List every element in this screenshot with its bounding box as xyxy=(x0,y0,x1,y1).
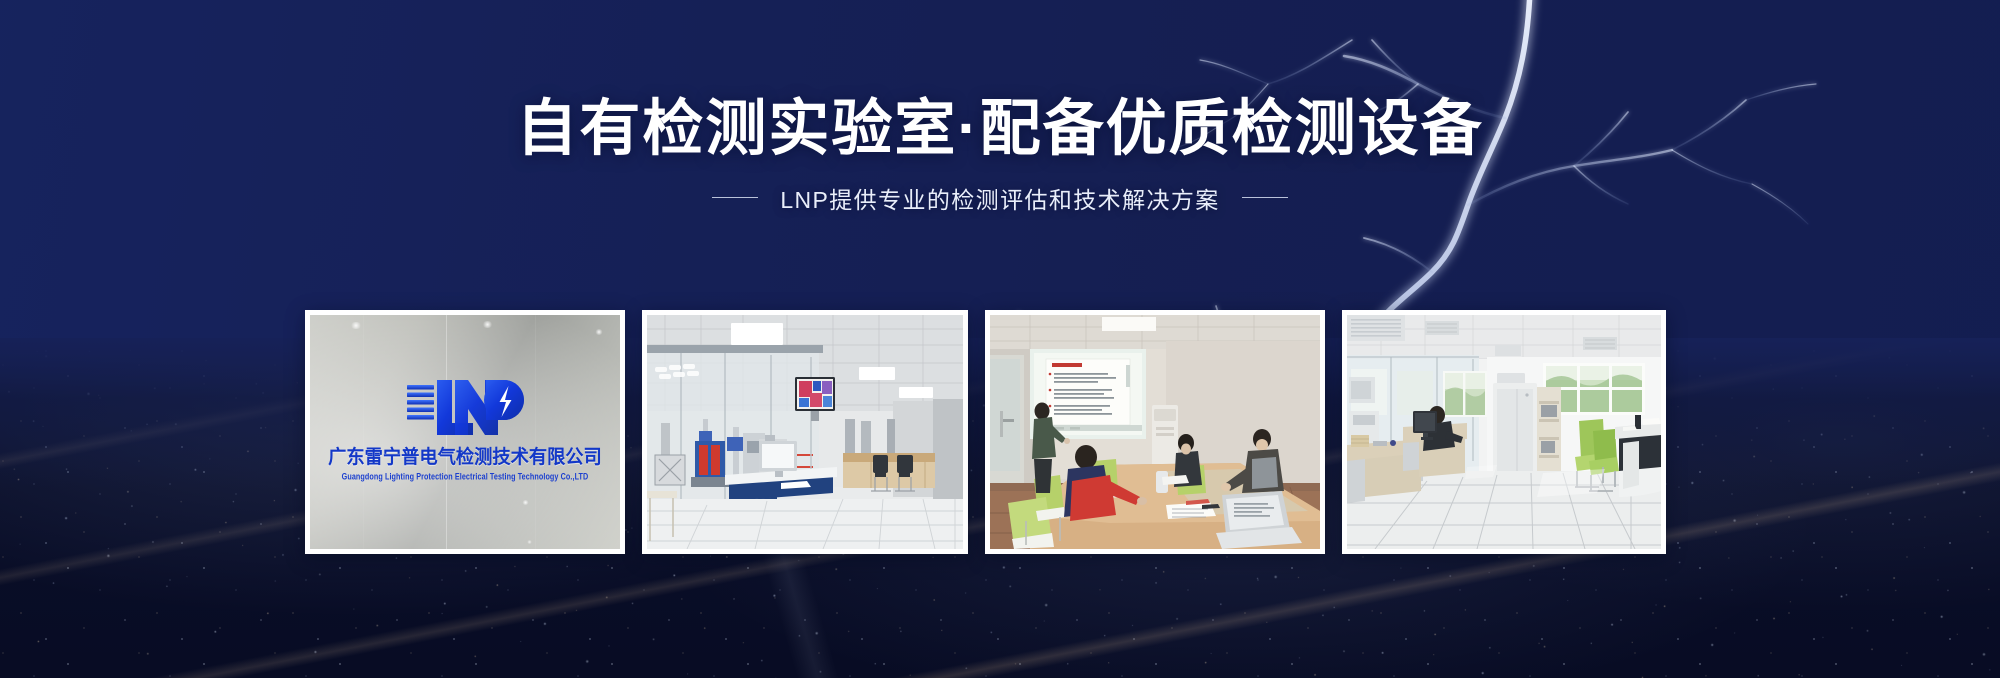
banner-headline: 自有检测实验室·配备优质检测设备 xyxy=(0,96,2000,161)
hero-banner: 自有检测实验室·配备优质检测设备 LNP提供专业的检测评估和技术解决方案 xyxy=(0,0,2000,678)
banner-subtitle-row: LNP提供专业的检测评估和技术解决方案 xyxy=(0,181,2000,215)
gallery-photo-office-area[interactable] xyxy=(1342,310,1666,554)
photo-gallery: 广东雷宁普电气检测技术有限公司 Guangdong Lighting Prote… xyxy=(305,310,1655,554)
rule-right-decoration xyxy=(1242,197,1288,198)
rule-left-decoration xyxy=(712,197,758,198)
gallery-photo-training-meeting-room[interactable] xyxy=(985,310,1325,554)
laboratory-photo xyxy=(647,315,963,549)
sign-chinese-name: 广东雷宁普电气检测技术有限公司 xyxy=(316,442,614,469)
gallery-photo-company-signage[interactable]: 广东雷宁普电气检测技术有限公司 Guangdong Lighting Prote… xyxy=(305,310,625,554)
gallery-photo-testing-laboratory[interactable] xyxy=(642,310,968,554)
wall-sign: 广东雷宁普电气检测技术有限公司 Guangdong Lighting Prote… xyxy=(310,376,620,481)
headline-block: 自有检测实验室·配备优质检测设备 LNP提供专业的检测评估和技术解决方案 xyxy=(0,96,2000,215)
banner-subtitle: LNP提供专业的检测评估和技术解决方案 xyxy=(780,181,1219,215)
office-photo xyxy=(1347,315,1661,549)
sign-english-name: Guangdong Lighting Protection Electrical… xyxy=(310,471,620,482)
lnp-logo-icon xyxy=(406,376,524,438)
meeting-room-photo xyxy=(990,315,1320,549)
